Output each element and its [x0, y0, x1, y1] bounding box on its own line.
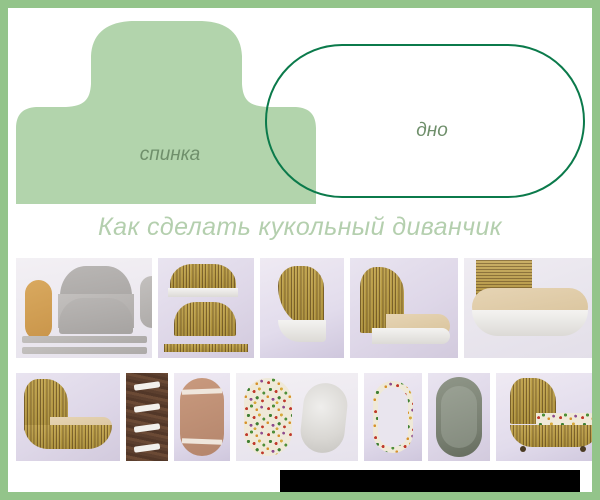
photo-fabric-and-wadding[interactable] [236, 373, 358, 461]
footer-redacted-bar [280, 470, 580, 492]
pattern-diagram: спинка дно [8, 8, 592, 210]
gallery-row-1 [8, 258, 592, 358]
photo-foam-legs[interactable] [126, 373, 168, 461]
page-title: Как сделать кукольный диванчик [8, 213, 592, 242]
photo-rattan-back-pieces[interactable] [158, 258, 254, 358]
photo-back-and-base[interactable] [350, 258, 458, 358]
photo-back-standing[interactable] [260, 258, 344, 358]
photo-grey-lined-base[interactable] [428, 373, 490, 461]
poster-root: спинка дно Как сделать кукольный диванчи… [0, 0, 600, 500]
gallery-row-2 [8, 373, 592, 461]
photo-padded-seat-base[interactable] [174, 373, 230, 461]
photo-cardboard-pieces[interactable] [16, 258, 152, 358]
photo-assembled-frame[interactable] [16, 373, 120, 461]
photo-finished-sofa[interactable] [496, 373, 592, 461]
seat-base-label: дно [416, 120, 448, 141]
photo-base-closeup[interactable] [464, 258, 592, 358]
photo-floral-ring[interactable] [364, 373, 422, 461]
backrest-label: спинка [140, 144, 201, 165]
poster-canvas: спинка дно Как сделать кукольный диванчи… [8, 8, 592, 492]
